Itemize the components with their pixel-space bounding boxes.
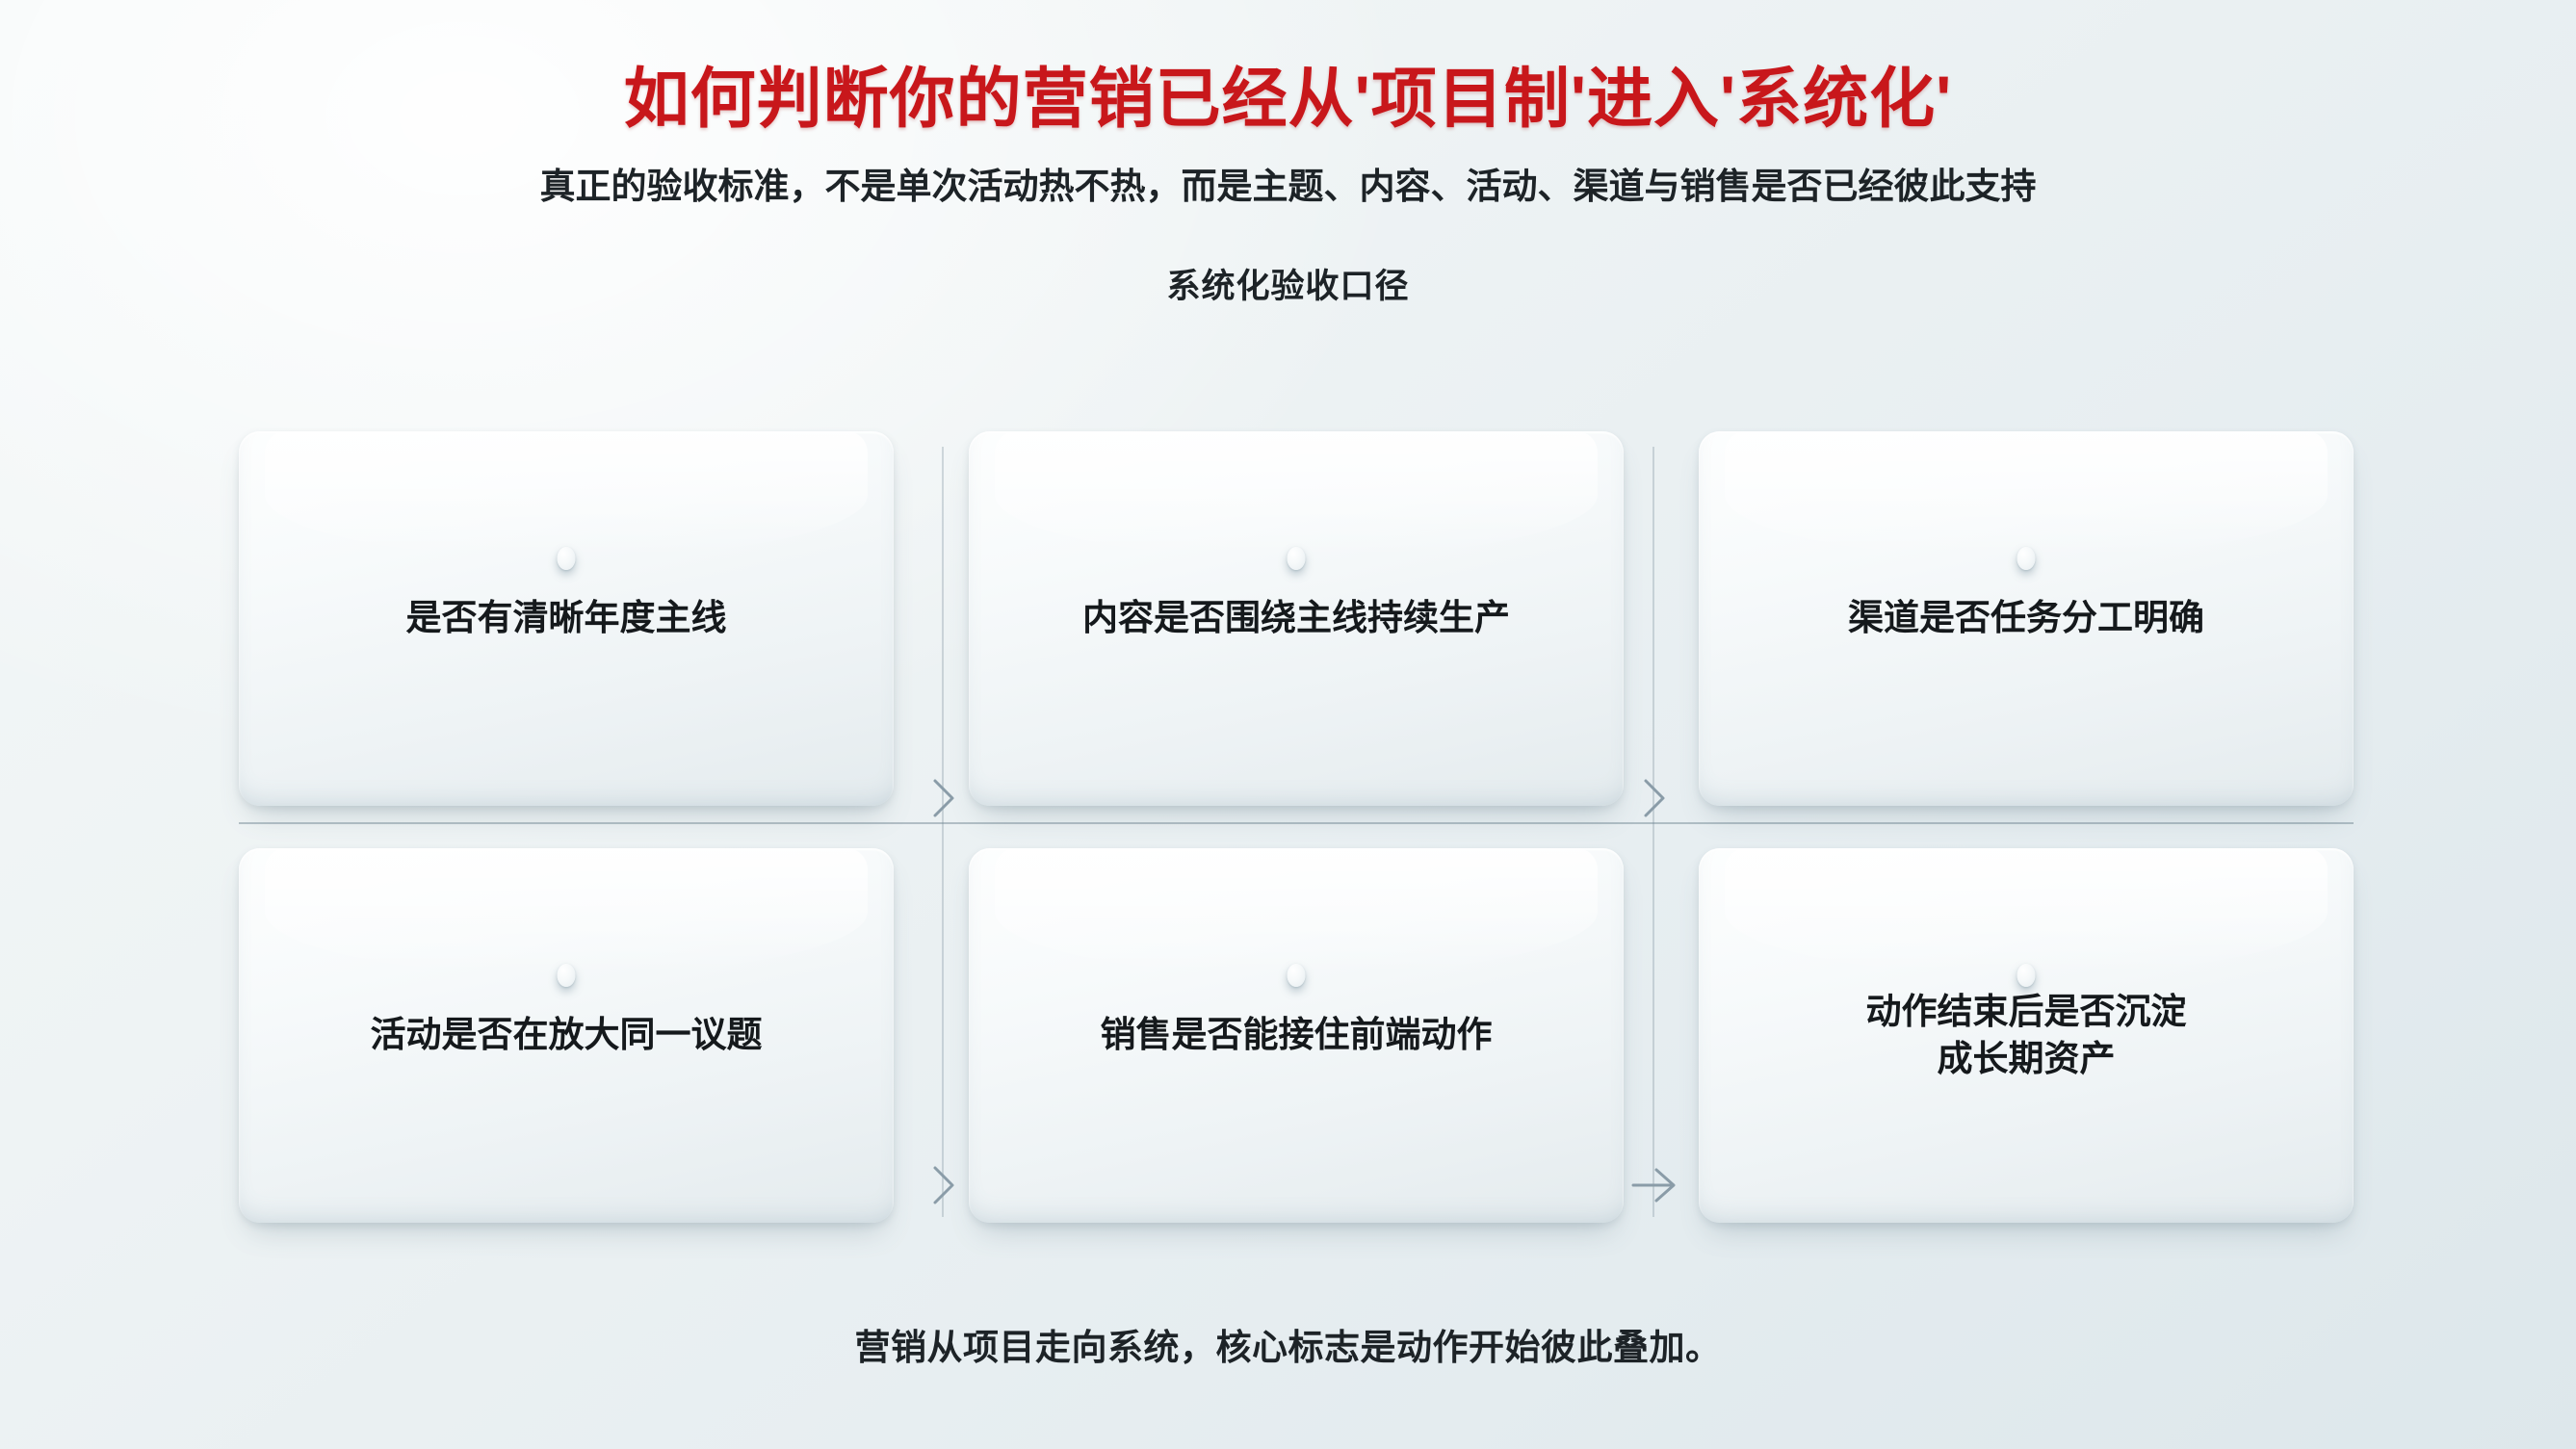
checklist-card-6[interactable]: 动作结束后是否沉淀 成长期资产 <box>1699 848 2354 1223</box>
checklist-card-label: 活动是否在放大同一议题 <box>346 1012 788 1058</box>
bead-icon <box>1288 964 1306 987</box>
checklist-card-5[interactable]: 销售是否能接住前端动作 <box>969 848 1624 1223</box>
bead-icon <box>1288 547 1306 570</box>
checklist-card-1[interactable]: 是否有清晰年度主线 <box>239 431 894 806</box>
bead-icon <box>558 547 576 570</box>
checklist-grid-wrapper: 是否有清晰年度主线 内容是否围绕主线持续生产 渠道是否任务分工明确 活动是否在放… <box>239 431 2354 1223</box>
footer-text: 营销从项目走向系统，核心标志是动作开始彼此叠加。 <box>0 1318 2576 1370</box>
bead-icon <box>2017 964 2036 987</box>
checklist-card-label: 内容是否围绕主线持续生产 <box>1057 595 1535 641</box>
slide-canvas: 如何判断你的营销已经从'项目制'进入'系统化' 真正的验收标准，不是单次活动热不… <box>0 0 2576 1449</box>
slide-header: 如何判断你的营销已经从'项目制'进入'系统化' 真正的验收标准，不是单次活动热不… <box>0 0 2576 308</box>
checklist-card-label: 渠道是否任务分工明确 <box>1823 595 2229 641</box>
section-heading: 系统化验收口径 <box>0 209 2576 308</box>
checklist-card-2[interactable]: 内容是否围绕主线持续生产 <box>969 431 1624 806</box>
checklist-card-label: 是否有清晰年度主线 <box>381 595 752 641</box>
page-title: 如何判断你的营销已经从'项目制'进入'系统化' <box>0 0 2576 136</box>
bead-icon <box>2017 547 2036 570</box>
checklist-grid: 是否有清晰年度主线 内容是否围绕主线持续生产 渠道是否任务分工明确 活动是否在放… <box>239 431 2354 1223</box>
bead-icon <box>558 964 576 987</box>
checklist-card-label: 销售是否能接住前端动作 <box>1076 1012 1518 1058</box>
page-subtitle: 真正的验收标准，不是单次活动热不热，而是主题、内容、活动、渠道与销售是否已经彼此… <box>0 136 2576 209</box>
checklist-card-label: 动作结束后是否沉淀 成长期资产 <box>1841 989 2212 1081</box>
checklist-card-4[interactable]: 活动是否在放大同一议题 <box>239 848 894 1223</box>
checklist-card-3[interactable]: 渠道是否任务分工明确 <box>1699 431 2354 806</box>
slide-footer: 营销从项目走向系统，核心标志是动作开始彼此叠加。 <box>0 1318 2576 1449</box>
